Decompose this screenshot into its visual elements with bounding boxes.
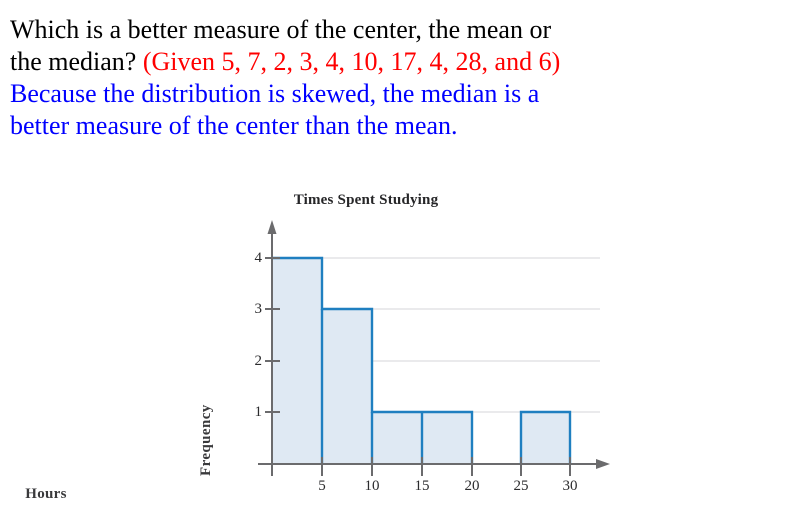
xtick-label-5: 5 [307, 478, 337, 495]
question-line-2: the median? (Given 5, 7, 2, 3, 4, 10, 17… [10, 46, 780, 78]
histogram-chart: Times Spent Studying Frequency Hours [0, 186, 788, 516]
ytick-label-1: 1 [240, 404, 262, 421]
ytick-label-2: 2 [240, 353, 262, 370]
answer-line-1: Because the distribution is skewed, the … [10, 78, 780, 110]
xtick-label-20: 20 [457, 478, 487, 495]
bar-25-30 [521, 412, 570, 464]
xtick-label-10: 10 [357, 478, 387, 495]
xtick-label-15: 15 [407, 478, 437, 495]
histogram-plot-area [0, 186, 788, 516]
question-line-2-prefix: the median? [10, 47, 143, 76]
bar-15-20 [422, 412, 472, 464]
question-answer-text: Which is a better measure of the center,… [10, 14, 780, 142]
bar-5-10 [322, 309, 372, 464]
xtick-label-25: 25 [506, 478, 536, 495]
given-data-values: (Given 5, 7, 2, 3, 4, 10, 17, 4, 28, and… [143, 47, 560, 76]
ytick-label-3: 3 [240, 301, 262, 318]
xtick-label-30: 30 [555, 478, 585, 495]
bar-10-15 [372, 412, 422, 464]
answer-line-2: better measure of the center than the me… [10, 110, 780, 142]
question-line-1: Which is a better measure of the center,… [10, 14, 780, 46]
ytick-label-4: 4 [240, 250, 262, 267]
